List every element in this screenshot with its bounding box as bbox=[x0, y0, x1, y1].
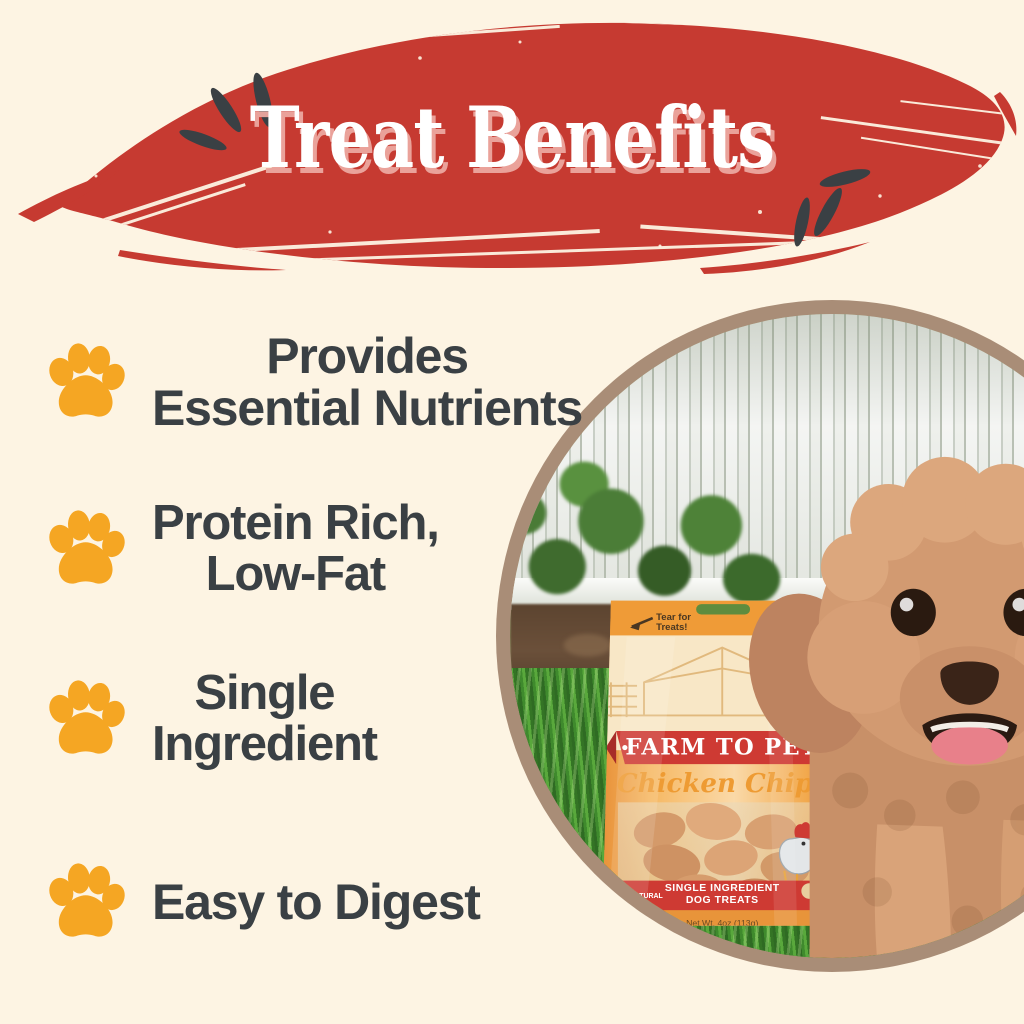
benefit-label: Protein Rich, Low-Fat bbox=[152, 498, 439, 600]
svg-text:Treats!: Treats! bbox=[656, 622, 687, 633]
page-title: Treat Benefits bbox=[102, 96, 921, 180]
benefit-label: Easy to Digest bbox=[152, 876, 480, 928]
dog-eye-left bbox=[891, 589, 936, 636]
benefit-item: Provides Essential Nutrients bbox=[0, 330, 582, 434]
paw-print-icon bbox=[42, 340, 126, 424]
benefit-label: Provides Essential Nutrients bbox=[152, 330, 582, 434]
paw-print-icon bbox=[42, 677, 126, 761]
benefit-item: Single Ingredient bbox=[0, 668, 377, 770]
benefit-item: Protein Rich, Low-Fat bbox=[0, 498, 439, 600]
paw-print-icon bbox=[42, 860, 126, 944]
package-tear-label: Tear for bbox=[656, 611, 691, 622]
product-photo: Tear for Treats! FARM TO PET bbox=[510, 314, 1024, 958]
paw-print-icon bbox=[42, 507, 126, 591]
benefit-item: Easy to Digest bbox=[0, 860, 480, 944]
dog-photo-subject bbox=[742, 417, 1024, 958]
dog-tongue bbox=[931, 726, 1008, 764]
benefit-label: Single Ingredient bbox=[152, 668, 377, 770]
header-banner: Treat Benefits bbox=[0, 0, 1024, 290]
